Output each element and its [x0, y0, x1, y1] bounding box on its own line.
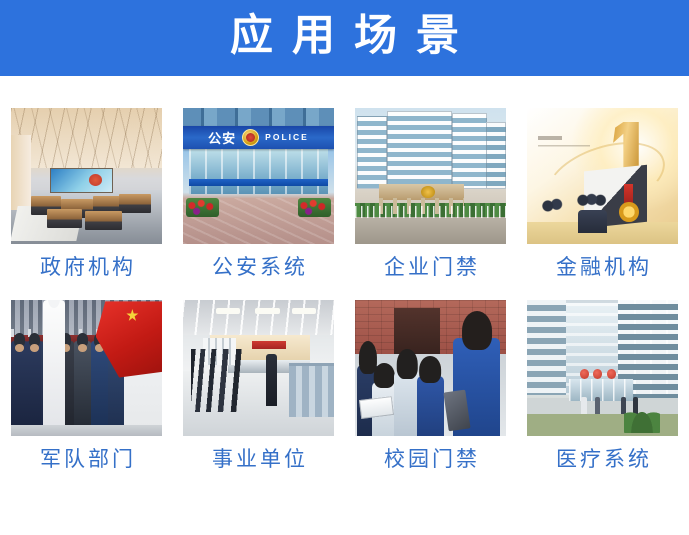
red-lantern-icon: [607, 369, 616, 379]
ceiling-light: [216, 308, 240, 313]
scenario-card-military[interactable]: 军队部门: [1, 300, 173, 492]
building-main: [387, 111, 452, 189]
scenario-image-police[interactable]: 公安 POLICE: [183, 108, 334, 244]
scenario-label: 医疗系统: [553, 449, 652, 470]
scenario-image-enterprise[interactable]: [355, 108, 506, 244]
police-signboard: 公安 POLICE: [183, 126, 334, 149]
scenario-card-institution[interactable]: 事业单位: [173, 300, 345, 492]
palm-shrub: [624, 398, 660, 433]
blue-barrier: [189, 179, 328, 186]
queueing-visitors: [191, 349, 254, 412]
finance-number-one-poster-photo: [527, 108, 678, 244]
scenario-grid: 政府机构 公安 POLICE 公安系统: [0, 76, 689, 492]
student-figure: [417, 376, 444, 436]
enterprise-office-building-photo: [355, 108, 506, 244]
flowerbed-right: [298, 198, 331, 217]
scenario-image-finance[interactable]: [527, 108, 678, 244]
scenario-image-government[interactable]: [11, 108, 162, 244]
conference-desks: [26, 184, 159, 225]
scenario-card-medical[interactable]: 医疗系统: [517, 300, 689, 492]
scenario-card-government[interactable]: 政府机构: [1, 108, 173, 300]
scenario-label: 军队部门: [37, 449, 136, 470]
walking-visitor: [266, 354, 277, 406]
scenario-image-military[interactable]: [11, 300, 162, 436]
parade-ground: [11, 425, 162, 436]
scenario-label: 校园门禁: [381, 449, 480, 470]
police-sign-cn: 公安: [208, 128, 236, 147]
award-medal-icon: [619, 202, 639, 222]
front-road: [355, 217, 506, 244]
police-sign-en: POLICE: [265, 132, 309, 142]
building-far-right: [486, 122, 506, 189]
glass-doors: [189, 149, 328, 194]
business-people-group: [542, 192, 614, 233]
poster-caption-block: [538, 145, 591, 172]
scenario-image-medical[interactable]: [527, 300, 678, 436]
navy-guard-white-uniform: [43, 300, 66, 436]
scenario-card-police[interactable]: 公安 POLICE 公安系统: [173, 108, 345, 300]
scenario-label: 公安系统: [209, 257, 308, 278]
red-banner-sign: [252, 341, 285, 349]
ceiling-light: [255, 308, 279, 313]
pedestrian-figure: [581, 397, 586, 415]
open-book: [358, 396, 393, 419]
ceiling-light: [292, 308, 316, 313]
scenario-image-campus[interactable]: [355, 300, 506, 436]
scenario-label: 事业单位: [209, 449, 308, 470]
pedestrian-figure: [595, 397, 600, 415]
flowerbed-left: [186, 198, 219, 217]
military-honor-guard-photo: [11, 300, 162, 436]
government-meeting-hall-photo: [11, 108, 162, 244]
public-service-hall-photo: [183, 300, 334, 436]
page-header: 应用场景: [0, 0, 689, 76]
red-lantern-icon: [580, 369, 589, 379]
hospital-wing-left: [527, 300, 566, 395]
campus-students-photo: [355, 300, 506, 436]
scenario-card-campus[interactable]: 校园门禁: [345, 300, 517, 492]
scenario-image-institution[interactable]: [183, 300, 334, 436]
scenario-card-enterprise[interactable]: 企业门禁: [345, 108, 517, 300]
scenario-label: 金融机构: [553, 257, 652, 278]
student-figure-foreground: [453, 338, 500, 436]
police-emblem-icon: [242, 129, 259, 146]
waiting-chairs: [289, 363, 334, 418]
scenario-card-finance[interactable]: 金融机构: [517, 108, 689, 300]
building-canopy: [183, 108, 334, 126]
page-title: 应用场景: [211, 15, 478, 62]
police-station-entrance-photo: 公安 POLICE: [183, 108, 334, 244]
national-emblem-icon: [421, 186, 435, 198]
perimeter-fence: [355, 206, 506, 218]
ceiling-panels: [183, 300, 334, 335]
scenario-label: 企业门禁: [381, 257, 480, 278]
building-wing-right: [452, 113, 487, 188]
building-wing-left: [357, 116, 388, 189]
hospital-building-photo: [527, 300, 678, 436]
scenario-label: 政府机构: [37, 257, 136, 278]
